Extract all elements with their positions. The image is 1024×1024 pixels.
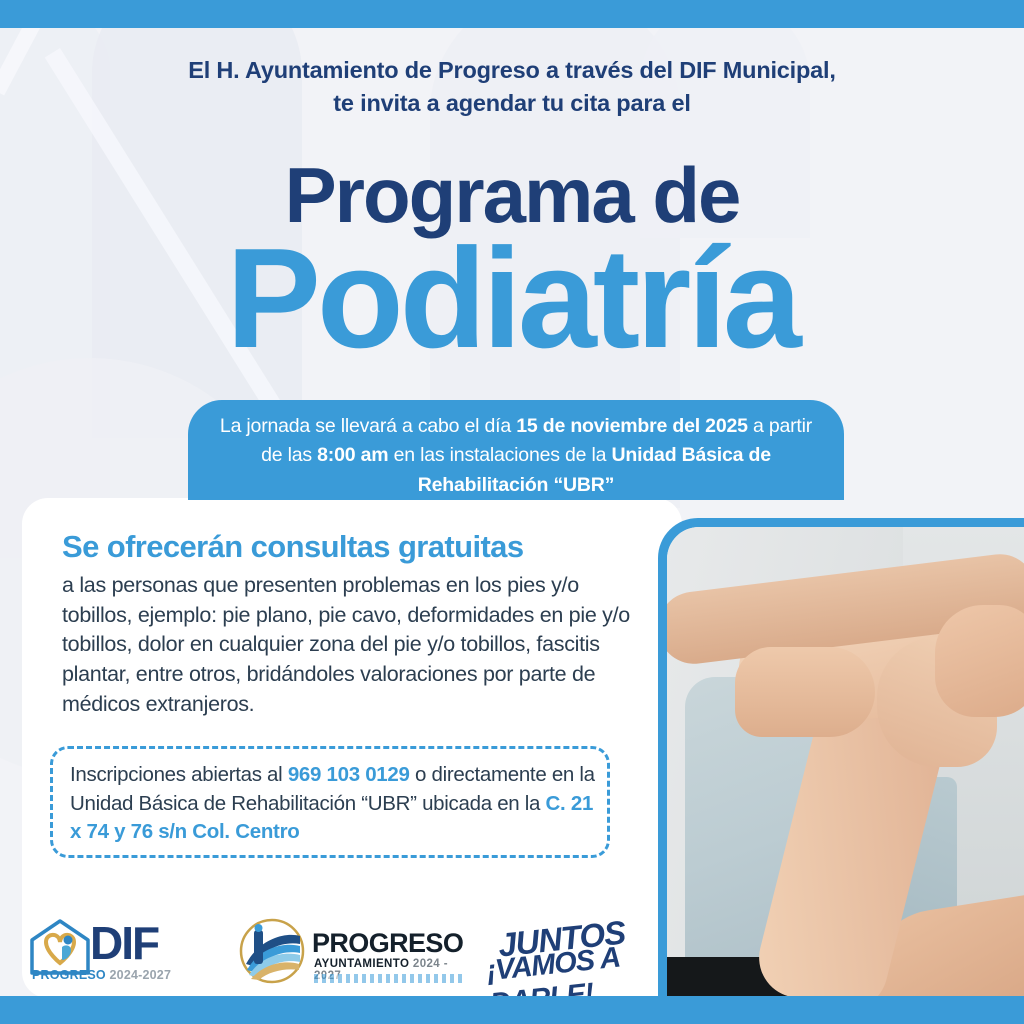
podiatry-photo bbox=[667, 527, 1024, 996]
progreso-bar-pattern bbox=[314, 974, 464, 983]
dif-years: 2024-2027 bbox=[106, 968, 171, 982]
juntos-logo: JUNTOS ¡VAMOS A DARLE! bbox=[488, 920, 668, 986]
banner-time: 8:00 am bbox=[317, 444, 388, 466]
intro-text: El H. Ayuntamiento de Progreso a través … bbox=[0, 54, 1024, 121]
banner-date: 15 de noviembre del 2025 bbox=[516, 415, 748, 437]
inscriptions-part-1: Inscripciones abiertas al bbox=[70, 763, 288, 786]
photo-clinician-hand-right bbox=[935, 605, 1024, 717]
dif-city: PROGRESO bbox=[32, 968, 106, 982]
dif-wordmark: DIF bbox=[90, 916, 158, 970]
progreso-sub-a: AYUNTAMIENTO bbox=[314, 958, 409, 970]
services-paragraph: a las personas que presenten problemas e… bbox=[62, 571, 642, 719]
banner-part-1: La jornada se llevará a cabo el día bbox=[220, 415, 516, 437]
banner-part-3: en las instalaciones de la bbox=[388, 444, 611, 466]
progreso-logo: PROGRESO AYUNTAMIENTO 2024 - 2027 bbox=[236, 916, 471, 992]
services-heading: Se ofrecerán consultas gratuitas bbox=[62, 531, 662, 564]
progreso-wordmark: PROGRESO bbox=[312, 928, 463, 959]
event-details-banner: La jornada se llevará a cabo el día 15 d… bbox=[188, 400, 844, 500]
poster-root: El H. Ayuntamiento de Progreso a través … bbox=[0, 0, 1024, 1024]
intro-line-2: te invita a agendar tu cita para el bbox=[0, 87, 1024, 120]
inscriptions-text: Inscripciones abiertas al 969 103 0129 o… bbox=[70, 761, 605, 847]
dif-logo: DIF PROGRESO 2024-2027 bbox=[28, 918, 228, 990]
intro-line-1: El H. Ayuntamiento de Progreso a través … bbox=[0, 54, 1024, 87]
dif-subtitle: PROGRESO 2024-2027 bbox=[32, 968, 171, 982]
poster-canvas: El H. Ayuntamiento de Progreso a través … bbox=[0, 28, 1024, 996]
logo-row: DIF PROGRESO 2024-2027 PROGRESO bbox=[28, 916, 648, 996]
photo-clinician-hand-left bbox=[735, 647, 875, 737]
photo-frame bbox=[658, 518, 1024, 996]
inscriptions-phone[interactable]: 969 103 0129 bbox=[288, 763, 410, 786]
lighthouse-waves-icon bbox=[236, 918, 308, 984]
page-title-secondary: Podiatría bbox=[0, 228, 1024, 370]
